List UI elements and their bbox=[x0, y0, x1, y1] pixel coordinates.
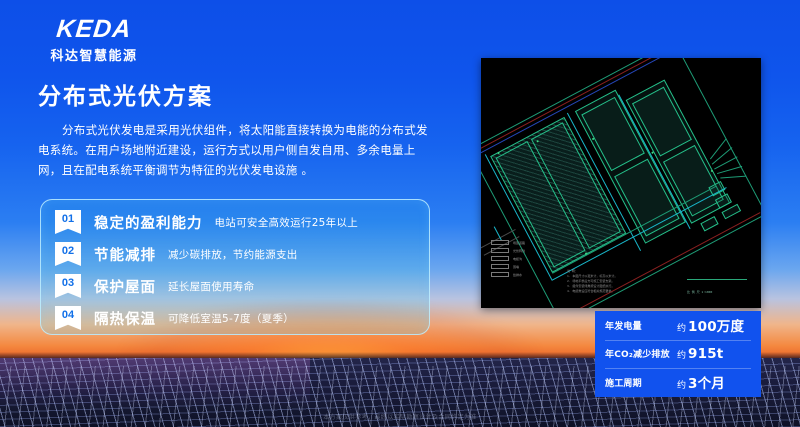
cad-legend-swatch bbox=[491, 240, 509, 245]
cad-legend-label: 围墙 bbox=[513, 265, 519, 269]
feature-item-03: 03 保护屋面 延长屋面使用寿命 bbox=[55, 274, 254, 298]
cad-legend: 场区道路 光伏阵列 电缆沟 围墙 给排水 bbox=[491, 240, 557, 280]
cad-branch-line bbox=[717, 166, 742, 174]
stat-number: 3个月 bbox=[688, 372, 725, 392]
cad-note-line: 4. 电缆敷设应符合相关规范要求。 bbox=[567, 289, 687, 294]
stat-row-construction-period: 施工周期 约 3个月 bbox=[595, 368, 761, 397]
brand-logo-name-cn: 科达智慧能源 bbox=[24, 45, 164, 64]
feature-description: 电站可安全高效运行25年以上 bbox=[215, 215, 359, 230]
stat-prefix: 约 bbox=[677, 348, 686, 361]
solar-panel-reflection bbox=[0, 358, 310, 408]
stat-key: 年CO₂减少排放 bbox=[605, 347, 677, 360]
cad-legend-label: 场区道路 bbox=[513, 241, 525, 245]
stat-value: 约 3个月 bbox=[677, 372, 725, 392]
cad-legend-item: 给排水 bbox=[491, 272, 557, 277]
feature-description: 减少碳排放，节约能源支出 bbox=[168, 247, 298, 262]
cad-legend-label: 电缆沟 bbox=[513, 257, 522, 261]
cad-scale-label: 比 例 尺 1:1000 bbox=[687, 290, 712, 294]
feature-number: 04 bbox=[62, 310, 74, 321]
feature-number: 03 bbox=[62, 278, 74, 289]
feature-title: 稳定的盈利能力 bbox=[94, 212, 203, 233]
stat-number: 100万度 bbox=[688, 315, 744, 335]
badge-number-icon: 04 bbox=[55, 306, 81, 330]
feature-title: 隔热保温 bbox=[94, 308, 156, 329]
brand-logo: KEDA 科达智慧能源 bbox=[24, 17, 164, 64]
stat-key: 施工周期 bbox=[605, 376, 677, 389]
cad-legend-swatch bbox=[491, 256, 509, 261]
stat-row-annual-generation: 年发电量 约 100万度 bbox=[595, 311, 761, 340]
feature-list-card: 01 稳定的盈利能力 电站可安全高效运行25年以上 02 节能减排 减少碳排放，… bbox=[40, 199, 430, 335]
feature-description: 延长屋面使用寿命 bbox=[168, 279, 254, 294]
stat-row-co2-reduction: 年CO₂减少排放 约 915t bbox=[595, 340, 761, 369]
stat-key: 年发电量 bbox=[605, 319, 677, 332]
cad-equipment-box bbox=[700, 216, 718, 231]
stats-panel: 年发电量 约 100万度 年CO₂减少排放 约 915t 施工周期 约 3个月 bbox=[595, 311, 761, 397]
cad-notes: 说 明： 1. 本图尺寸以毫米计，标高以米计。 2. 场地平整后方可施工安装支架… bbox=[567, 269, 687, 294]
footer-watermark: 本方案仅供参考，最终以实际勘察设计及合同约定为准 bbox=[0, 412, 800, 421]
cad-legend-label: 给排水 bbox=[513, 273, 522, 277]
cad-scale-bar-line bbox=[687, 279, 747, 280]
cad-legend-swatch bbox=[491, 264, 509, 269]
cad-legend-item: 场区道路 bbox=[491, 240, 557, 245]
feature-number: 01 bbox=[62, 214, 74, 225]
cad-legend-swatch bbox=[491, 248, 509, 253]
feature-item-04: 04 隔热保温 可降低室温5-7度（夏季） bbox=[55, 306, 294, 330]
feature-description: 可降低室温5-7度（夏季） bbox=[168, 311, 294, 326]
cad-site-plan-image: 场区道路 光伏阵列 电缆沟 围墙 给排水 说 明： 1. 本图尺寸以毫米计，标高… bbox=[481, 58, 761, 308]
badge-number-icon: 03 bbox=[55, 274, 81, 298]
feature-item-01: 01 稳定的盈利能力 电站可安全高效运行25年以上 bbox=[55, 210, 358, 234]
stat-prefix: 约 bbox=[677, 321, 686, 334]
cad-legend-swatch bbox=[491, 272, 509, 277]
cad-branch-line bbox=[712, 147, 733, 164]
stat-prefix: 约 bbox=[677, 378, 686, 391]
cad-legend-label: 光伏阵列 bbox=[513, 249, 525, 253]
feature-item-02: 02 节能减排 减少碳排放，节约能源支出 bbox=[55, 242, 298, 266]
brand-logo-mark: KEDA bbox=[23, 17, 166, 42]
cad-branch-line bbox=[720, 176, 746, 179]
badge-number-icon: 02 bbox=[55, 242, 81, 266]
badge-number-icon: 01 bbox=[55, 210, 81, 234]
cad-legend-item: 光伏阵列 bbox=[491, 248, 557, 253]
intro-paragraph: 分布式光伏发电是采用光伏组件，将太阳能直接转换为电能的分布式发电系统。在用户场地… bbox=[38, 120, 436, 180]
stat-value: 约 100万度 bbox=[677, 315, 744, 335]
cad-scale-bar: 比 例 尺 1:1000 bbox=[687, 279, 747, 298]
stat-number: 915t bbox=[688, 346, 723, 362]
cad-branch-line bbox=[710, 138, 727, 159]
feature-title: 节能减排 bbox=[94, 244, 156, 265]
cad-legend-item: 电缆沟 bbox=[491, 256, 557, 261]
feature-number: 02 bbox=[62, 246, 74, 257]
cad-legend-item: 围墙 bbox=[491, 264, 557, 269]
feature-title: 保护屋面 bbox=[94, 276, 156, 297]
stat-value: 约 915t bbox=[677, 346, 723, 362]
slide-stage: KEDA 科达智慧能源 分布式光伏方案 分布式光伏发电是采用光伏组件，将太阳能直… bbox=[0, 0, 800, 427]
page-title: 分布式光伏方案 bbox=[38, 77, 213, 111]
